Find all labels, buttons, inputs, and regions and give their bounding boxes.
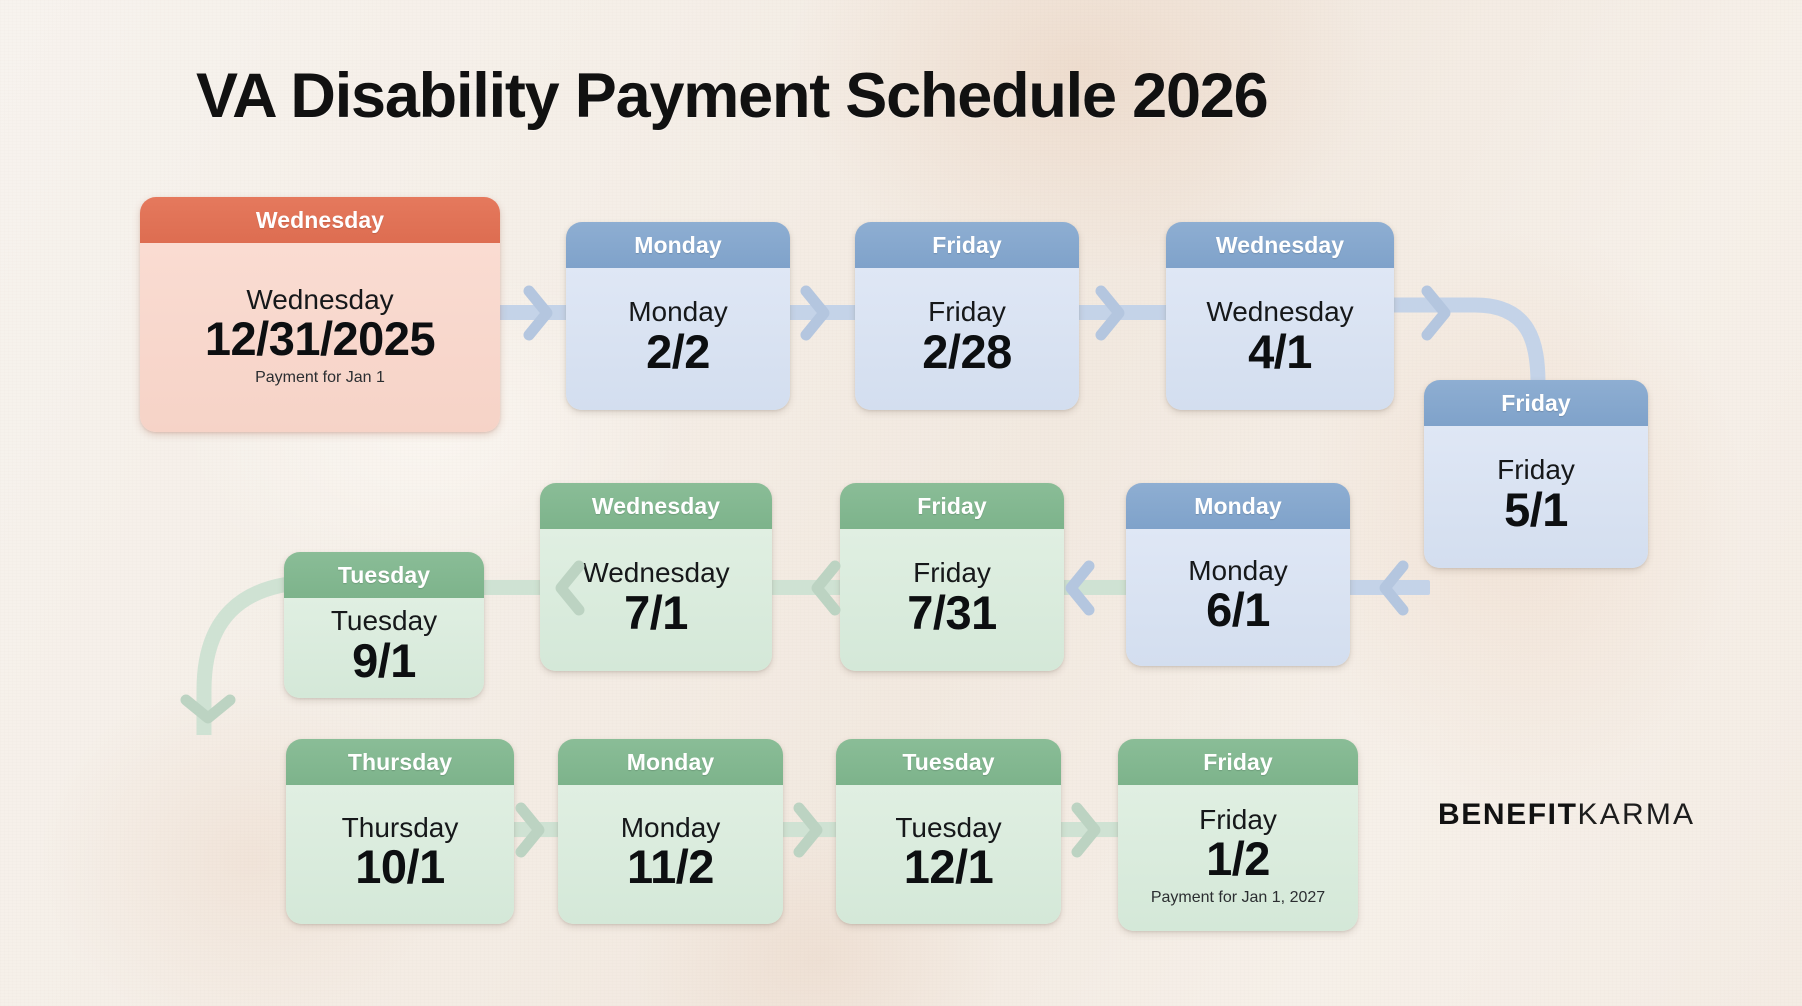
arrow-chevron-down-icon — [178, 690, 238, 732]
card-body: Wednesday 12/31/2025 Payment for Jan 1 — [140, 243, 500, 432]
payment-card-nov-2[interactable]: Monday Monday 11/2 — [558, 739, 783, 924]
card-header-weekday: Wednesday — [140, 197, 500, 243]
payment-card-may-1[interactable]: Friday Friday 5/1 — [1424, 380, 1648, 568]
card-dayname: Monday — [1188, 556, 1288, 585]
card-header-weekday: Friday — [855, 222, 1079, 268]
payment-card-feb-28[interactable]: Friday Friday 2/28 — [855, 222, 1079, 410]
arrow-chevron-right-icon — [1068, 800, 1106, 860]
payment-card-jan-2-2027[interactable]: Friday Friday 1/2 Payment for Jan 1, 202… — [1118, 739, 1358, 931]
arrow-chevron-left-icon — [1374, 558, 1412, 618]
arrow-chevron-right-icon — [790, 800, 828, 860]
card-date: 6/1 — [1206, 585, 1270, 635]
card-dayname: Wednesday — [1206, 297, 1353, 326]
card-header-weekday: Monday — [566, 222, 790, 268]
card-body: Wednesday 4/1 — [1166, 268, 1394, 410]
card-header-weekday: Tuesday — [284, 552, 484, 598]
card-dayname: Friday — [1497, 455, 1575, 484]
payment-card-sep-1[interactable]: Tuesday Tuesday 9/1 — [284, 552, 484, 698]
arrow-chevron-right-icon — [797, 283, 835, 343]
arrow-chevron-right-icon — [520, 283, 558, 343]
arrow-chevron-right-icon — [1418, 283, 1456, 343]
card-body: Friday 5/1 — [1424, 426, 1648, 568]
card-body: Friday 2/28 — [855, 268, 1079, 410]
arrow-chevron-right-icon — [512, 800, 550, 860]
payment-card-dec-1[interactable]: Tuesday Tuesday 12/1 — [836, 739, 1061, 924]
card-note: Payment for Jan 1, 2027 — [1151, 889, 1325, 907]
card-date: 12/31/2025 — [205, 314, 435, 364]
payment-card-apr-1[interactable]: Wednesday Wednesday 4/1 — [1166, 222, 1394, 410]
card-header-weekday: Wednesday — [1166, 222, 1394, 268]
benefitkarma-logo: BENEFITKARMA — [1438, 800, 1695, 830]
payment-card-jun-1[interactable]: Monday Monday 6/1 — [1126, 483, 1350, 666]
card-body: Wednesday 7/1 — [540, 529, 772, 671]
card-date: 7/1 — [624, 588, 688, 638]
card-date: 12/1 — [904, 842, 993, 892]
card-header-weekday: Thursday — [286, 739, 514, 785]
card-date: 9/1 — [352, 636, 416, 686]
card-dayname: Monday — [621, 813, 721, 842]
card-body: Friday 7/31 — [840, 529, 1064, 671]
card-dayname: Friday — [928, 297, 1006, 326]
infographic-canvas: VA Disability Payment Schedule 2026 Wedn… — [0, 0, 1802, 1006]
card-dayname: Friday — [1199, 805, 1277, 834]
card-header-weekday: Monday — [558, 739, 783, 785]
card-body: Thursday 10/1 — [286, 785, 514, 924]
payment-card-jul-1[interactable]: Wednesday Wednesday 7/1 — [540, 483, 772, 671]
connector-row2-bar-green — [380, 580, 1190, 595]
card-dayname: Tuesday — [331, 606, 437, 635]
arrow-chevron-right-icon — [1092, 283, 1130, 343]
card-body: Monday 2/2 — [566, 268, 790, 410]
card-dayname: Wednesday — [246, 285, 393, 314]
card-date: 5/1 — [1504, 485, 1568, 535]
card-dayname: Friday — [913, 558, 991, 587]
card-body: Monday 6/1 — [1126, 529, 1350, 666]
card-dayname: Monday — [628, 297, 728, 326]
card-date: 2/28 — [922, 327, 1011, 377]
payment-card-oct-1[interactable]: Thursday Thursday 10/1 — [286, 739, 514, 924]
card-dayname: Tuesday — [895, 813, 1001, 842]
arrow-chevron-left-icon — [1060, 558, 1098, 618]
card-body: Monday 11/2 — [558, 785, 783, 924]
card-header-weekday: Friday — [1118, 739, 1358, 785]
card-date: 2/2 — [646, 327, 710, 377]
card-note: Payment for Jan 1 — [255, 369, 385, 387]
card-date: 11/2 — [627, 842, 714, 892]
card-header-weekday: Friday — [840, 483, 1064, 529]
card-date: 1/2 — [1206, 834, 1270, 884]
card-body: Tuesday 9/1 — [284, 598, 484, 698]
card-dayname: Thursday — [342, 813, 459, 842]
card-header-weekday: Monday — [1126, 483, 1350, 529]
card-date: 7/31 — [907, 588, 996, 638]
page-title: VA Disability Payment Schedule 2026 — [196, 60, 1267, 132]
payment-card-jul-31[interactable]: Friday Friday 7/31 — [840, 483, 1064, 671]
payment-card-feb-2[interactable]: Monday Monday 2/2 — [566, 222, 790, 410]
logo-light-text: KARMA — [1578, 798, 1696, 831]
card-date: 4/1 — [1248, 327, 1312, 377]
card-dayname: Wednesday — [582, 558, 729, 587]
card-body: Friday 1/2 Payment for Jan 1, 2027 — [1118, 785, 1358, 931]
logo-bold-text: BENEFIT — [1438, 798, 1578, 831]
card-header-weekday: Wednesday — [540, 483, 772, 529]
payment-card-dec-31-2025[interactable]: Wednesday Wednesday 12/31/2025 Payment f… — [140, 197, 500, 432]
card-header-weekday: Tuesday — [836, 739, 1061, 785]
card-header-weekday: Friday — [1424, 380, 1648, 426]
arrow-chevron-left-icon — [806, 558, 844, 618]
card-body: Tuesday 12/1 — [836, 785, 1061, 924]
card-date: 10/1 — [355, 842, 444, 892]
